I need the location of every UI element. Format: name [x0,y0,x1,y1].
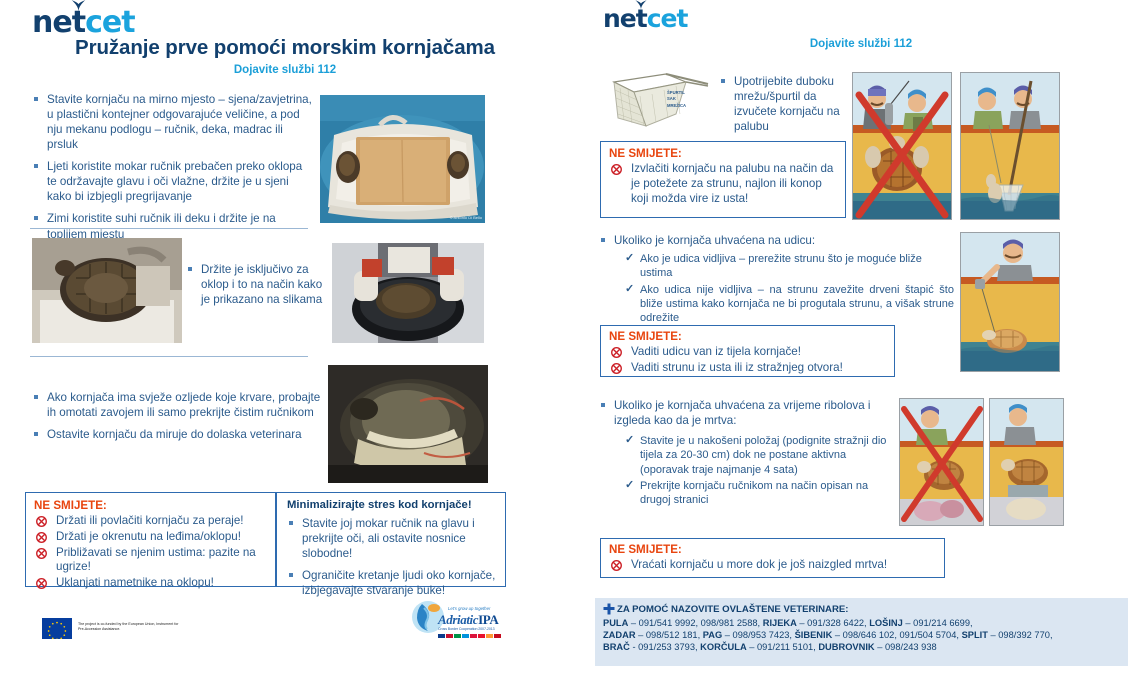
injury-care-bullets: Ako kornjača ima svježe ozljede koje krv… [32,390,322,449]
illustration-wrong-hauling-art [853,73,952,220]
ipa-name-adriatic: Adriatic [438,612,478,627]
medical-cross-icon [603,603,615,615]
ipa-country-flags [438,634,501,638]
flag-icon [462,634,469,638]
prohibition-icon [611,164,622,175]
prohibition-icon [611,347,622,358]
illustration-correct-net [960,72,1060,220]
photo-landing-net-art [604,68,714,130]
section-divider-2 [30,356,308,357]
list-item: Prekrijte kornjaču ručnikom na način opi… [625,479,889,508]
list-item: Uklanjati nametnike na oklopu! [34,576,267,591]
stress-box-left: Minimalizirajte stres kod kornjače! Stav… [276,492,506,587]
flag-icon [438,634,445,638]
list-item: Ljeti koristite mokar ručnik prebačen pr… [32,159,312,204]
warning-box-1-right: NE SMIJETE: Izvlačiti kornjaču na palubu… [600,141,846,218]
logo-whale-icon: t [636,6,647,31]
list-item: Stavite kornjaču na mirno mjesto – sjena… [32,92,312,152]
list-item-label: Približavati se njenim ustima: pazite na… [56,546,256,574]
section-divider-1 [30,228,308,229]
flag-icon [494,634,501,638]
eu-flag-icon [42,618,72,639]
flag-icon [486,634,493,638]
flag-icon [478,634,485,638]
emergency-subtitle-right: Dojavite službi 112 [691,38,1031,50]
photo-turtle-in-container: © Antonio Di Bello [320,95,485,223]
list-item: Držati je okrenutu na leđima/oklopu! [34,530,267,545]
logo-text-cet: cet [647,4,688,33]
dead-turtle-section: Ukoliko je kornjača uhvaćena za vrijeme … [599,398,889,510]
eu-flag-stars [42,618,72,639]
logo-text-cet: cet [85,5,134,40]
flag-icon [470,634,477,638]
first-aid-bullets-top: Stavite kornjaču na mirno mjesto – sjena… [32,92,312,249]
flag-icon [454,634,461,638]
netcet-logo-right: netcet [603,6,687,31]
photo-wrapped-turtle [328,365,488,483]
emergency-subtitle: Dojavite službi 112 [40,64,530,76]
list-item: Upotrijebite duboku mrežu/špurtil da izv… [719,74,844,134]
list-item-label: Držati je okrenutu na leđima/oklopu! [56,530,241,543]
warning-items-2: Vaditi udicu van iz tijela kornjače! Vad… [609,345,888,376]
warning-box-2-right: NE SMIJETE: Vaditi udicu van iz tijela k… [600,325,895,377]
photo-holding-turtle-art [32,238,182,343]
photo-landing-net: ŠPURTIL SAK MREŽICA [604,68,714,130]
prohibition-icon [36,516,47,527]
warning-items-3: Vraćati kornjaču u more dok je još naizg… [609,558,938,573]
warning-box-3-right: NE SMIJETE: Vraćati kornjaču u more dok … [600,538,945,578]
illustration-tilted-position [989,398,1064,526]
list-item: Vaditi strunu iz usta ili iz stražnjeg o… [609,361,888,376]
list-item: Stavite joj mokar ručnik na glavu i prek… [287,516,497,561]
eu-funding-text: The project is co-funded by the European… [78,622,183,632]
list-item-label: Izvlačiti kornjaču na palubu na način da… [631,162,833,205]
illustration-cut-line [960,232,1060,372]
list-item-label: Držati ili povlačiti kornjaču za peraje! [56,514,244,527]
right-page: netcet Dojavite službi 112 ŠPURTIL SAK M… [571,0,1142,689]
flag-icon [446,634,453,638]
warning-title: NE SMIJETE: [609,147,839,160]
illustration-correct-net-art [961,73,1060,220]
prohibition-icon [36,548,47,559]
photo-credit: © Antonio Di Bello [450,215,482,220]
prohibition-icon [36,532,47,543]
list-item: Vaditi udicu van iz tijela kornjače! [609,345,888,360]
list-item: Ograničite kretanje ljudi oko kornjače, … [287,568,497,598]
logo-text-ne: ne [603,4,636,33]
vet-line: PULA – 091/541 9992, 098/981 2588, RIJEK… [603,617,1120,629]
illustration-wrong-release-art [900,399,984,526]
whale-tail-icon [634,0,648,11]
ipa-slogan: Let's grow up together [448,606,490,611]
illustration-cut-line-art [961,233,1060,372]
warning-title: NE SMIJETE: [609,330,888,343]
net-label: ŠPURTIL SAK MREŽICA [667,90,686,109]
page-title: Pružanje prve pomoći morskim kornjačama [40,36,530,60]
list-item-label: Vaditi udicu van iz tijela kornjače! [631,345,801,358]
list-item: Približavati se njenim ustima: pazite na… [34,546,267,576]
stress-title: Minimalizirajte stres kod kornjače! [287,499,497,511]
logo-text-ne: ne [32,5,72,40]
warning-items-left: Držati ili povlačiti kornjaču za peraje!… [34,514,267,591]
list-item: Držite je isključivo za oklop i to na na… [186,262,331,307]
left-page: netcet Pružanje prve pomoći morskim korn… [0,0,571,689]
prohibition-icon [611,363,622,374]
ipa-name: AdriaticIPA [438,613,498,626]
illustration-tilted-position-art [990,399,1064,526]
stress-items: Stavite joj mokar ručnik na glavu i prek… [287,516,497,598]
list-item: Stavite je u nakošeni položaj (podignite… [625,434,889,477]
warning-title: NE SMIJETE: [609,543,938,556]
prohibition-icon [611,560,622,571]
adriatic-ipa-logo: Let's grow up together AdriaticIPA Cross… [408,600,508,652]
prohibition-icon [36,578,47,589]
shell-handling-bullets: Držite je isključivo za oklop i to na na… [186,262,331,314]
vet-contacts-footer: ZA POMOĆ NAZOVITE OVLAŠTENE VETERINARE: … [595,598,1128,666]
list-item-label: Uklanjati nametnike na oklopu! [56,576,214,589]
netcet-logo-left: netcet [32,8,135,38]
warning-box-left: NE SMIJETE: Držati ili povlačiti kornjač… [25,492,276,587]
vet-line: BRAČ - 091/253 3793, KORČULA – 091/211 5… [603,641,1120,653]
list-item: Ukoliko je kornjača uhvaćena za vrijeme … [599,398,889,428]
list-item-label: Vraćati kornjaču u more dok je još naizg… [631,558,887,571]
list-item-label: Vaditi strunu iz usta ili iz stražnjeg o… [631,361,843,374]
photo-turtle-in-tub [332,243,484,343]
list-item: Ukoliko je kornjača uhvaćena na udicu: [599,233,954,248]
hook-section: Ukoliko je kornjača uhvaćena na udicu: A… [599,233,954,328]
photo-wrapped-turtle-art [328,365,488,483]
logo-whale-icon: t [72,8,85,38]
ipa-name-ipa: IPA [478,612,498,627]
photo-turtle-in-container-art [320,95,485,223]
photo-turtle-in-tub-art [332,243,484,343]
illustration-wrong-release [899,398,984,526]
list-item: Ako udica nije vidljiva – na strunu zave… [625,283,954,326]
list-item: Vraćati kornjaču u more dok je još naizg… [609,558,938,573]
whale-tail-icon [70,0,87,13]
ipa-subtitle: Cross Border Cooperation 2007-2013 [438,627,495,631]
list-item: Ostavite kornjaču da miruje do dolaska v… [32,427,322,442]
vet-line: ZADAR – 098/512 181, PAG – 098/953 7423,… [603,629,1120,641]
list-item: Izvlačiti kornjaču na palubu na način da… [609,162,839,206]
vet-heading: ZA POMOĆ NAZOVITE OVLAŠTENE VETERINARE: [603,604,1120,615]
list-item: Ako kornjača ima svježe ozljede koje krv… [32,390,322,420]
list-item: Držati ili povlačiti kornjaču za peraje! [34,514,267,529]
warning-items-1: Izvlačiti kornjaču na palubu na način da… [609,162,839,206]
net-bullets: Upotrijebite duboku mrežu/špurtil da izv… [719,74,844,141]
list-item: Ako je udica vidljiva – prerežite strunu… [625,252,954,281]
photo-holding-turtle [32,238,182,343]
warning-title: NE SMIJETE: [34,499,267,512]
illustration-wrong-hauling [852,72,952,220]
